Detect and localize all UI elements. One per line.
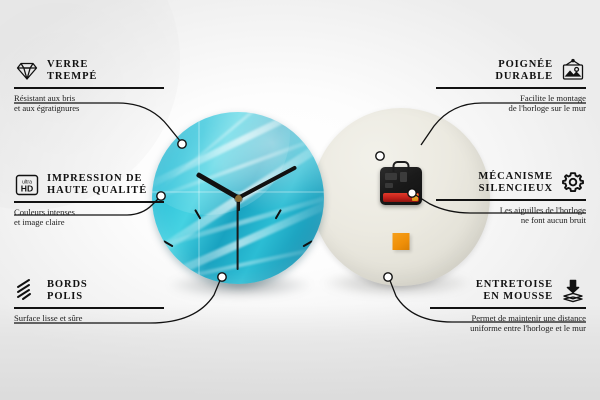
clock-mechanism xyxy=(380,167,422,205)
mechanism-detail xyxy=(385,173,397,180)
feature-title-line1: IMPRESSION DE xyxy=(47,173,142,184)
feature-title-line1: ENTRETOISE xyxy=(476,279,553,290)
foam-spacer xyxy=(393,233,410,250)
ultra-hd-icon: ultra HD xyxy=(14,172,40,198)
feature-description: Les aiguilles de l'horloge ne font aucun… xyxy=(436,205,586,226)
feature-description: Couleurs intenses et image claire xyxy=(14,207,164,228)
divider xyxy=(14,307,164,309)
product-infographic: VERRE TREMPÉ Résistant aux bris et aux é… xyxy=(0,0,600,400)
foam-spacer-icon xyxy=(560,278,586,304)
mechanism-detail xyxy=(385,183,393,188)
clock-hands-hub xyxy=(235,195,242,202)
feature-description: Facilite le montage de l'horloge sur le … xyxy=(436,93,586,114)
feature-poignee-durable: POIGNÉE DURABLE Facilite le montage de l… xyxy=(436,58,586,114)
feature-title-line2: TREMPÉ xyxy=(47,71,97,82)
feature-title-line2: EN MOUSSE xyxy=(483,291,553,302)
feature-title-line1: BORDS xyxy=(47,279,88,290)
polished-edges-icon xyxy=(14,278,40,304)
clock-front-view xyxy=(152,112,324,284)
second-hand xyxy=(237,198,239,270)
feature-title-line1: VERRE xyxy=(47,59,88,70)
svg-text:HD: HD xyxy=(21,184,33,194)
divider xyxy=(430,307,586,309)
divider xyxy=(436,199,586,201)
feature-description: Résistant aux bris et aux égratignures xyxy=(14,93,164,114)
feature-title-line2: HAUTE QUALITÉ xyxy=(47,185,147,196)
feature-bords-polis: BORDS POLIS Surface lisse et sûre xyxy=(14,278,164,323)
feature-mecanisme-silencieux: MÉCANISME SILENCIEUX Les aiguilles de l'… xyxy=(436,170,586,226)
feature-title-line1: MÉCANISME xyxy=(478,171,553,182)
diamond-icon xyxy=(14,58,40,84)
feature-entretoise-en-mousse: ENTRETOISE EN MOUSSE Permet de maintenir… xyxy=(430,278,586,334)
mechanism-hanger xyxy=(393,161,410,172)
feature-title-line2: POLIS xyxy=(47,291,83,302)
feature-title-line2: DURABLE xyxy=(495,71,553,82)
gear-icon xyxy=(560,170,586,196)
feature-title-line2: SILENCIEUX xyxy=(479,183,553,194)
hour-marker xyxy=(238,283,324,284)
mechanism-detail xyxy=(400,172,407,182)
divider xyxy=(14,201,164,203)
feature-description: Permet de maintenir une distance uniform… xyxy=(430,313,586,334)
hour-marker xyxy=(152,283,238,284)
feature-impression-haute-qualite: ultra HD IMPRESSION DE HAUTE QUALITÉ Cou… xyxy=(14,172,164,228)
divider xyxy=(14,87,164,89)
feature-title-line1: POIGNÉE xyxy=(498,59,553,70)
hanging-frame-icon xyxy=(560,58,586,84)
divider xyxy=(436,87,586,89)
feature-description: Surface lisse et sûre xyxy=(14,313,164,324)
battery xyxy=(383,193,419,202)
feature-verre-trempe: VERRE TREMPÉ Résistant aux bris et aux é… xyxy=(14,58,164,114)
